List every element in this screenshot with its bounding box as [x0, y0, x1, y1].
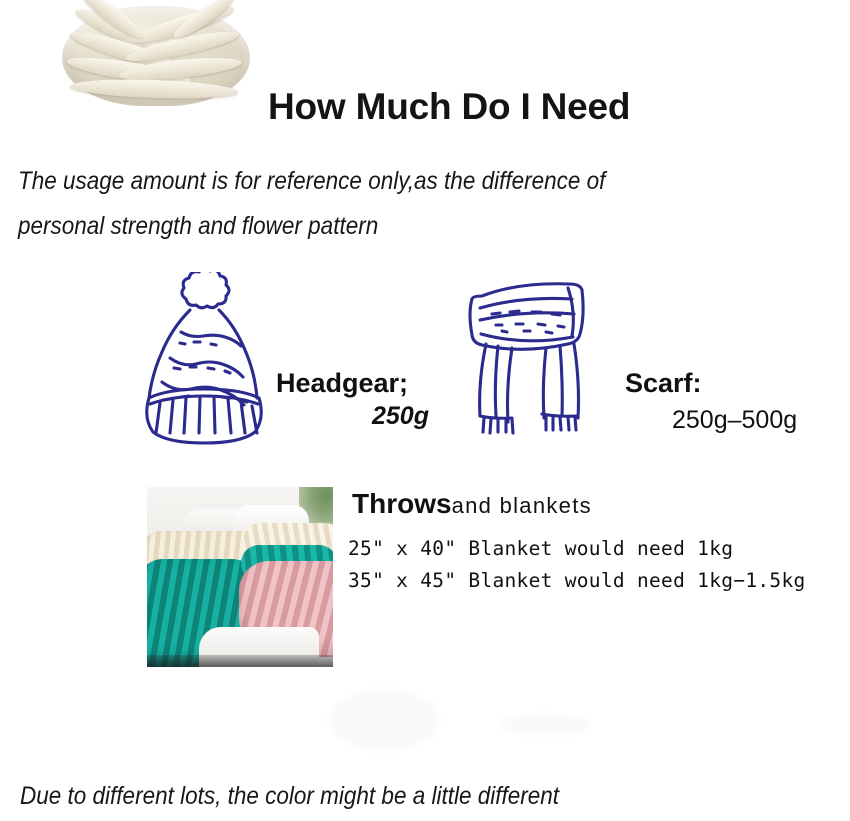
headgear-amount: 250g: [372, 402, 429, 431]
infographic-page: How Much Do I Need The usage amount is f…: [0, 0, 850, 821]
footer-note: Due to different lots, the color might b…: [20, 782, 559, 811]
scan-artifact: [500, 715, 590, 735]
scarf-amount: 250g–500g: [672, 406, 797, 435]
throws-heading-plain: and blankets: [452, 493, 592, 518]
headgear-label: Headgear;: [276, 368, 408, 399]
page-title: How Much Do I Need: [268, 86, 630, 128]
subtitle-line-2: personal strength and flower pattern: [18, 212, 378, 241]
throws-heading-strong: Throws: [352, 488, 452, 519]
blanket-size-line: 35" x 45" Blanket would need 1kg−1.5kg: [348, 569, 806, 592]
photo-shadow: [147, 655, 333, 667]
beanie-hat-icon: [118, 272, 290, 462]
blanket-photo: [147, 487, 333, 667]
throws-heading: Throwsand blankets: [352, 488, 592, 520]
scan-artifact: [330, 690, 440, 750]
blanket-size-line: 25" x 40" Blanket would need 1kg: [348, 537, 733, 560]
yarn-skein-photo: [62, 6, 250, 106]
subtitle-line-1: The usage amount is for reference only,a…: [18, 167, 605, 196]
scarf-label: Scarf:: [625, 368, 702, 399]
scarf-icon: [440, 268, 620, 458]
